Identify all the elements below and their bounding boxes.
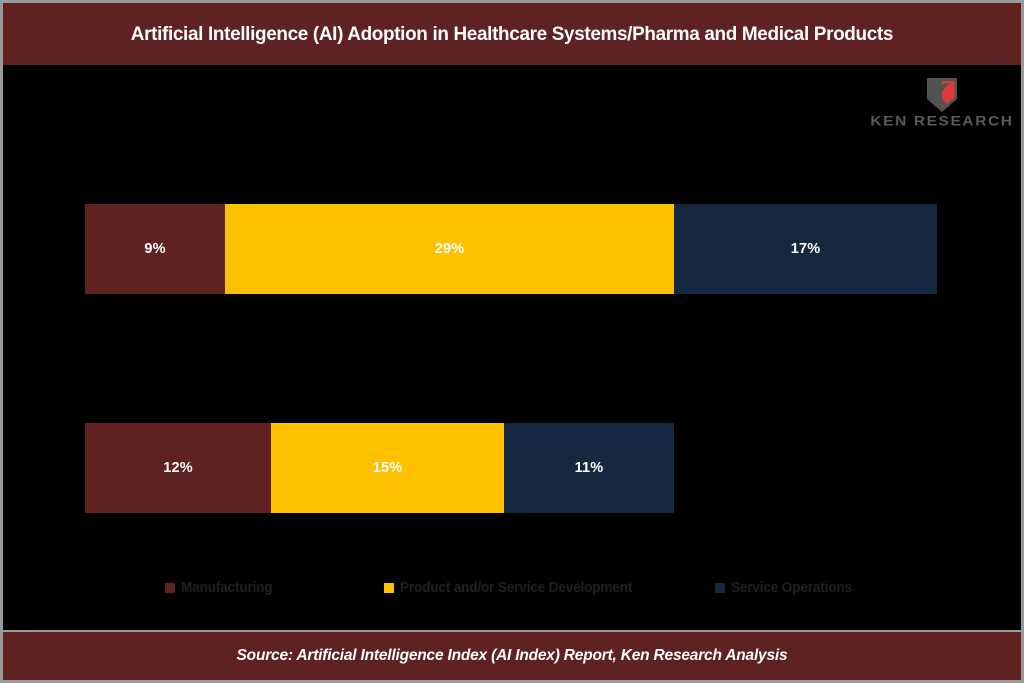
legend-label-service-operations: Service Operations [731, 580, 852, 596]
legend-swatch-product-service-development [384, 583, 394, 593]
legend-label-product-service-development: Product and/or Service Development [400, 580, 632, 596]
logo-wordmark: KEN RESEARCH [867, 114, 1017, 131]
plot-area: KEN RESEARCH 9% 29% 17% 12% 15% 11% [3, 65, 1021, 630]
legend-swatch-service-operations [715, 583, 725, 593]
chart-header-band: Artificial Intelligence (AI) Adoption in… [3, 3, 1021, 65]
bar-1-segment-service-operations: 17% [674, 204, 937, 294]
legend-label-manufacturing: Manufacturing [181, 580, 272, 596]
ken-research-logo: KEN RESEARCH [867, 77, 1017, 135]
legend-item-manufacturing[interactable]: Manufacturing [165, 580, 278, 596]
bar-2-label-product-service-development: 15% [373, 460, 403, 476]
bar-1-label-manufacturing: 9% [144, 241, 165, 257]
legend-swatch-manufacturing [165, 583, 175, 593]
chart-frame: Artificial Intelligence (AI) Adoption in… [0, 0, 1024, 683]
bar-1-label-service-operations: 17% [791, 241, 821, 257]
bar-1-segment-manufacturing: 9% [85, 204, 225, 294]
bar-row-2: 12% 15% 11% [85, 423, 674, 513]
page-title: Artificial Intelligence (AI) Adoption in… [131, 23, 893, 46]
source-note: Source: Artificial Intelligence Index (A… [237, 647, 788, 665]
bar-1-segment-product-service-development: 29% [225, 204, 674, 294]
chart-footer-band: Source: Artificial Intelligence Index (A… [3, 630, 1021, 680]
bar-2-segment-service-operations: 11% [504, 423, 674, 513]
bar-2-label-manufacturing: 12% [163, 460, 193, 476]
bar-2-segment-manufacturing: 12% [85, 423, 271, 513]
bar-1-label-product-service-development: 29% [435, 241, 465, 257]
shield-k-icon [925, 77, 959, 113]
bar-row-1: 9% 29% 17% [85, 204, 937, 294]
bar-2-segment-product-service-development: 15% [271, 423, 504, 513]
bar-2-label-service-operations: 11% [575, 460, 604, 476]
legend-item-service-operations[interactable]: Service Operations [715, 580, 860, 596]
legend-item-product-service-development[interactable]: Product and/or Service Development [384, 580, 647, 596]
chart-legend: Manufacturing Product and/or Service Dev… [3, 573, 1021, 603]
